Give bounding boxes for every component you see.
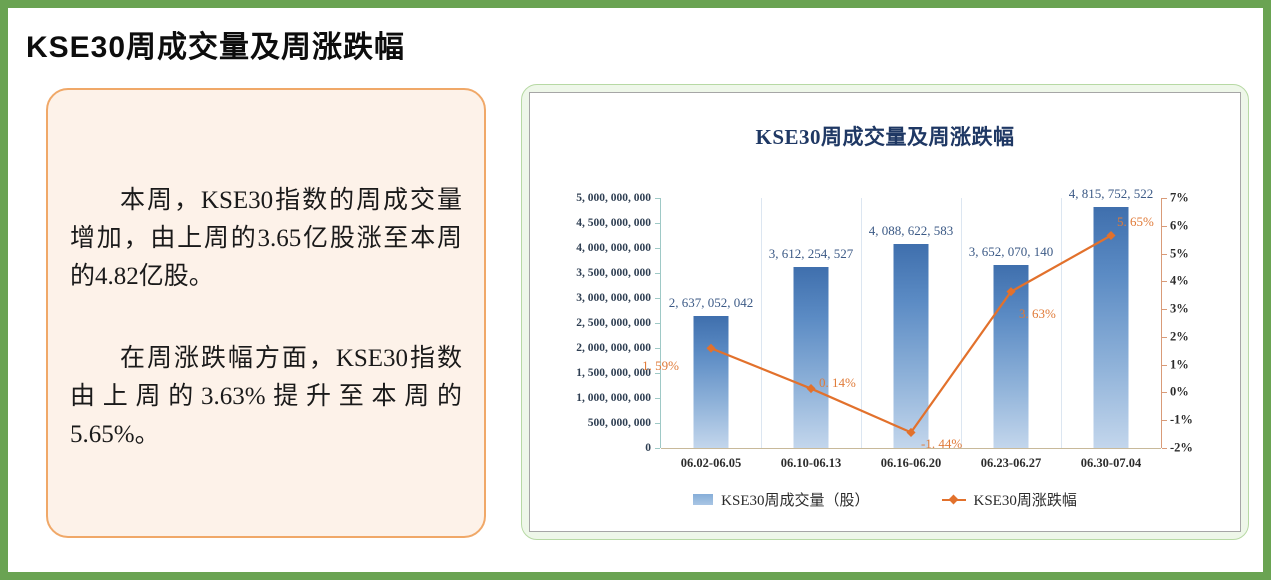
left-axis-tick [655,298,660,299]
left-axis-tick [655,423,660,424]
left-axis-tick-label: 5, 000, 000, 000 [576,192,651,204]
left-axis-tick-label: 4, 000, 000, 000 [576,242,651,254]
page-title: KSE30周成交量及周涨跌幅 [26,22,405,66]
right-axis-tick-label: -1% [1170,413,1193,428]
legend-label-volume: KSE30周成交量（股） [721,489,869,510]
bar-swatch-icon [693,494,713,505]
commentary-card: 本周，KSE30指数的周成交量增加，由上周的3.65亿股涨至本周的4.82亿股。… [46,88,486,538]
chart-canvas: KSE30周成交量及周涨跌幅 5, 000, 000, 0004, 500, 0… [529,92,1241,532]
line-marker-icon [942,494,966,505]
left-axis-tick-label: 2, 500, 000, 000 [576,317,651,329]
commentary-paragraph-1: 本周，KSE30指数的周成交量增加，由上周的3.65亿股涨至本周的4.82亿股。 [70,182,462,296]
right-axis-tick [1162,337,1167,338]
right-axis-tick-label: 2% [1170,329,1189,344]
chart-panel: KSE30周成交量及周涨跌幅 5, 000, 000, 0004, 500, 0… [521,84,1249,540]
right-axis-tick-label: 4% [1170,274,1189,289]
slide-root: KSE30周成交量及周涨跌幅 本周，KSE30指数的周成交量增加，由上周的3.6… [0,0,1271,580]
commentary-text: 本周，KSE30指数的周成交量增加，由上周的3.65亿股涨至本周的4.82亿股。… [70,182,462,454]
left-axis-tick-label: 500, 000, 000 [588,417,651,429]
category-axis-line [661,448,1161,449]
line-value-label: 5. 65% [1117,214,1154,230]
right-axis-tick [1162,198,1167,199]
legend-label-change: KSE30周涨跌幅 [974,489,1077,510]
left-axis-tick [655,223,660,224]
chart-legend: KSE30周成交量（股） KSE30周涨跌幅 [530,489,1240,510]
right-axis-tick [1162,226,1167,227]
left-axis-tick [655,448,660,449]
line-value-label: 0. 14% [819,375,856,391]
category-axis-label: 06.16-06.20 [881,456,941,471]
right-axis-tick-label: -2% [1170,441,1193,456]
right-axis-tick-label: 3% [1170,302,1189,317]
commentary-paragraph-2: 在周涨跌幅方面，KSE30指数由上周的3.63%提升至本周的5.65%。 [70,340,462,454]
line-series [661,198,1161,448]
right-axis-tick [1162,281,1167,282]
left-axis-tick-label: 4, 500, 000, 000 [576,217,651,229]
chart-plot-area: 5, 000, 000, 0004, 500, 000, 0004, 000, … [661,198,1161,448]
right-axis-tick-label: 1% [1170,357,1189,372]
right-axis-tick-label: 7% [1170,191,1189,206]
left-axis-tick-label: 0 [645,442,651,454]
right-axis-tick [1162,309,1167,310]
right-axis-tick [1162,392,1167,393]
right-axis-tick-label: 6% [1170,218,1189,233]
left-axis-tick-label: 3, 500, 000, 000 [576,267,651,279]
category-axis-label: 06.23-06.27 [981,456,1041,471]
line-value-label: -1. 44% [921,436,962,452]
left-axis-tick-label: 1, 500, 000, 000 [576,367,651,379]
legend-item-change: KSE30周涨跌幅 [942,489,1077,510]
line-value-label: 3. 63% [1019,306,1056,322]
category-axis-label: 06.10-06.13 [781,456,841,471]
left-axis-tick [655,248,660,249]
right-axis-tick-label: 5% [1170,246,1189,261]
category-axis-label: 06.02-06.05 [681,456,741,471]
left-axis-tick [655,273,660,274]
chart-title: KSE30周成交量及周涨跌幅 [530,121,1240,151]
left-axis-tick-label: 3, 000, 000, 000 [576,292,651,304]
legend-item-volume: KSE30周成交量（股） [693,489,869,510]
left-axis-tick [655,348,660,349]
left-axis-tick-label: 2, 000, 000, 000 [576,342,651,354]
left-axis-tick-label: 1, 000, 000, 000 [576,392,651,404]
right-axis-tick [1162,420,1167,421]
left-axis-tick [655,198,660,199]
right-axis-tick [1162,448,1167,449]
left-axis-tick [655,323,660,324]
line-value-label: 1. 59% [642,358,679,374]
left-axis-tick [655,398,660,399]
right-axis-tick-label: 0% [1170,385,1189,400]
right-axis-line [1161,198,1162,448]
category-axis-label: 06.30-07.04 [1081,456,1141,471]
right-axis-tick [1162,254,1167,255]
right-axis-tick [1162,365,1167,366]
